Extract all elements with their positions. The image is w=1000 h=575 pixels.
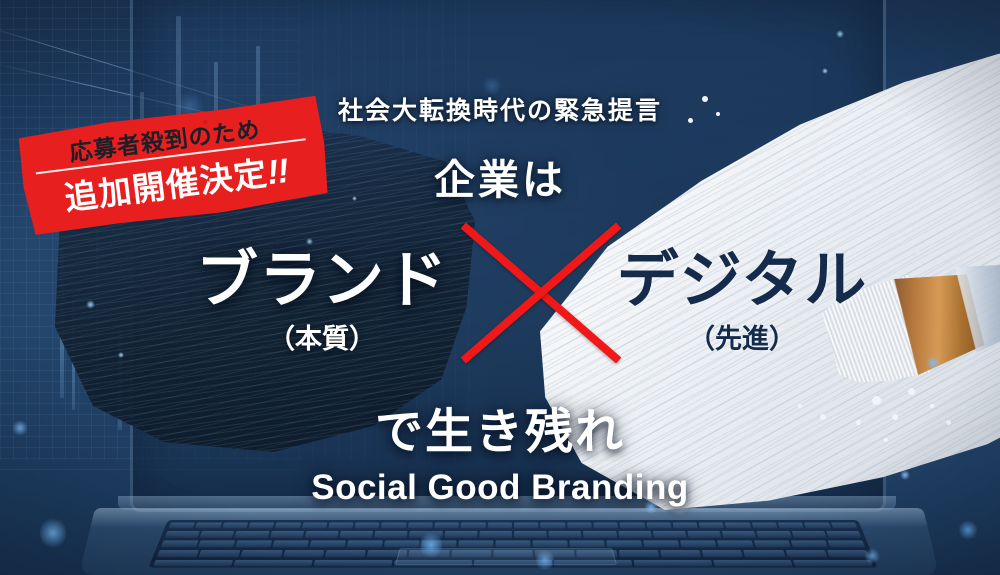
right-concept: デジタル （先進） [592, 248, 892, 356]
left-concept: ブランド （本質） [172, 248, 472, 356]
brand-name: Social Good Branding [0, 468, 1000, 508]
right-concept-sub: （先進） [592, 317, 892, 356]
closing-text: で生き残れ [0, 392, 1000, 462]
red-cross-icon [455, 218, 627, 368]
right-concept-main: デジタル [592, 248, 892, 313]
left-concept-sub: （本質） [172, 317, 472, 356]
left-concept-main: ブランド [172, 248, 472, 313]
badge-exclaim: !! [265, 152, 290, 192]
promo-banner: 社会大転換時代の緊急提言 企業は ブランド （本質） デジタル （先進） で生き… [0, 0, 1000, 575]
